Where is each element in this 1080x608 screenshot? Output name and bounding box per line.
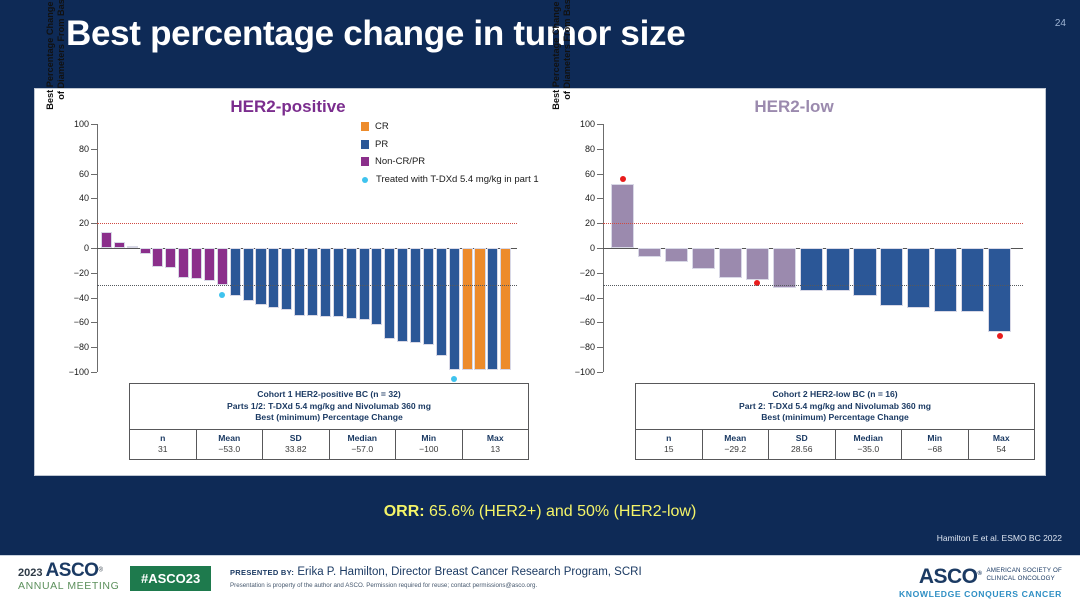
bar bbox=[746, 248, 769, 280]
bar bbox=[611, 184, 634, 248]
y-tick bbox=[597, 198, 603, 199]
bar bbox=[320, 248, 331, 317]
stats-column-header: Min bbox=[396, 433, 462, 444]
bar bbox=[114, 242, 125, 248]
reference-line bbox=[603, 285, 1023, 286]
plot-area-her2-low: 100806040200−20−40−60−80−100 bbox=[603, 124, 1023, 372]
bar bbox=[853, 248, 876, 296]
y-tick-label: −40 bbox=[580, 293, 595, 303]
y-tick bbox=[597, 149, 603, 150]
stats-column-header: SD bbox=[769, 433, 835, 444]
y-tick bbox=[597, 372, 603, 373]
stats-column-header: Max bbox=[969, 433, 1035, 444]
stats-column-header: Median bbox=[330, 433, 396, 444]
bar bbox=[243, 248, 254, 301]
bar bbox=[268, 248, 279, 308]
orr-summary: ORR: 65.6% (HER2+) and 50% (HER2-low) bbox=[0, 503, 1080, 521]
bar bbox=[371, 248, 382, 325]
presented-by-label: PRESENTED BY: bbox=[230, 568, 294, 577]
presented-by-line: PRESENTED BY: Erika P. Hamilton, Directo… bbox=[230, 566, 642, 578]
bar bbox=[178, 248, 189, 278]
bar bbox=[152, 248, 163, 267]
stats-value: 28.56 bbox=[769, 444, 835, 455]
bar bbox=[638, 248, 661, 257]
legend-swatch-icon bbox=[361, 157, 369, 166]
legend-label: Treated with T-DXd 5.4 mg/kg in part 1 bbox=[376, 174, 539, 186]
stats-cell: Max13 bbox=[463, 430, 529, 459]
stats-column-header: n bbox=[636, 433, 702, 444]
y-tick bbox=[91, 174, 97, 175]
chart-panel: HER2-positive Best Percentage Change in … bbox=[34, 88, 1046, 476]
chart-title-her2-positive: HER2-positive bbox=[35, 97, 541, 117]
bar bbox=[487, 248, 498, 370]
stats-column-header: Mean bbox=[197, 433, 263, 444]
stats-header-line1: Cohort 2 HER2-low BC (n = 16) bbox=[640, 389, 1030, 401]
bar bbox=[907, 248, 930, 308]
y-axis-label-left: Best Percentage Change in Sumof Diameter… bbox=[45, 0, 67, 144]
orr-label: ORR: bbox=[384, 503, 425, 520]
stats-header-line3: Best (minimum) Percentage Change bbox=[134, 412, 524, 424]
y-tick bbox=[597, 248, 603, 249]
stats-cell: Max54 bbox=[969, 430, 1035, 459]
bar bbox=[500, 248, 511, 370]
stats-row: n31Mean−53.0SD33.82Median−57.0Min−100Max… bbox=[130, 430, 528, 459]
bar bbox=[462, 248, 473, 370]
bar bbox=[346, 248, 357, 319]
y-tick-label: −80 bbox=[580, 342, 595, 352]
y-tick-label: 60 bbox=[79, 169, 89, 179]
y-tick-label: −60 bbox=[74, 317, 89, 327]
data-point-marker bbox=[219, 292, 225, 298]
bar bbox=[101, 232, 112, 248]
asco-logo-wordmark: ASCO® bbox=[919, 564, 982, 587]
y-tick bbox=[91, 198, 97, 199]
bar bbox=[449, 248, 460, 370]
reference-line bbox=[97, 223, 517, 224]
legend-label: CR bbox=[375, 121, 389, 133]
y-tick bbox=[91, 372, 97, 373]
stats-cell: SD28.56 bbox=[769, 430, 836, 459]
stats-value: 33.82 bbox=[263, 444, 329, 455]
citation: Hamilton E et al. ESMO BC 2022 bbox=[937, 533, 1062, 543]
slide-footer: 2023 ASCO® ANNUAL MEETING #ASCO23 PRESEN… bbox=[0, 555, 1080, 608]
y-tick bbox=[91, 347, 97, 348]
asco-year: 2023 bbox=[18, 567, 42, 579]
reference-line bbox=[603, 223, 1023, 224]
stats-cell: Median−57.0 bbox=[330, 430, 397, 459]
bar bbox=[307, 248, 318, 316]
bar bbox=[665, 248, 688, 262]
presented-by-block: PRESENTED BY: Erika P. Hamilton, Directo… bbox=[230, 566, 642, 589]
bar bbox=[474, 248, 485, 370]
legend-item: Treated with T-DXd 5.4 mg/kg in part 1 bbox=[361, 174, 539, 186]
stats-header-line2: Part 2: T-DXd 5.4 mg/kg and Nivolumab 36… bbox=[640, 401, 1030, 413]
stats-cell: Mean−53.0 bbox=[197, 430, 264, 459]
reference-line bbox=[97, 285, 517, 286]
bar bbox=[359, 248, 370, 320]
stats-column-header: n bbox=[130, 433, 196, 444]
stats-cell: SD33.82 bbox=[263, 430, 330, 459]
bar bbox=[423, 248, 434, 345]
bar bbox=[719, 248, 742, 278]
slide-number: 24 bbox=[1055, 18, 1066, 29]
stats-column-header: SD bbox=[263, 433, 329, 444]
y-tick-label: −40 bbox=[74, 293, 89, 303]
data-point-marker bbox=[451, 376, 457, 382]
bar bbox=[217, 248, 228, 285]
stats-value: −100 bbox=[396, 444, 462, 455]
bar bbox=[410, 248, 421, 343]
her2-positive-chart: HER2-positive Best Percentage Change in … bbox=[35, 89, 541, 477]
stats-header-right: Cohort 2 HER2-low BC (n = 16) Part 2: T-… bbox=[636, 384, 1034, 430]
legend-label: PR bbox=[375, 139, 388, 151]
bar bbox=[255, 248, 266, 305]
bar bbox=[230, 248, 241, 296]
stats-header-line1: Cohort 1 HER2-positive BC (n = 32) bbox=[134, 389, 524, 401]
stats-value: 15 bbox=[636, 444, 702, 455]
asco-logo: ASCO® AMERICAN SOCIETY OF CLINICAL ONCOL… bbox=[899, 564, 1062, 599]
y-tick bbox=[91, 322, 97, 323]
asco-annual-meeting-logo: 2023 ASCO® ANNUAL MEETING bbox=[18, 564, 119, 593]
asco-annual-meeting-text: ANNUAL MEETING bbox=[18, 580, 119, 593]
y-tick bbox=[91, 273, 97, 274]
stats-header-line2: Parts 1/2: T-DXd 5.4 mg/kg and Nivolumab… bbox=[134, 401, 524, 413]
y-tick-label: −20 bbox=[74, 268, 89, 278]
y-tick bbox=[597, 273, 603, 274]
y-tick bbox=[597, 124, 603, 125]
stats-cell: Mean−29.2 bbox=[703, 430, 770, 459]
y-tick bbox=[91, 149, 97, 150]
bar bbox=[436, 248, 447, 356]
y-tick-label: 0 bbox=[84, 243, 89, 253]
y-tick bbox=[91, 124, 97, 125]
bar bbox=[127, 246, 138, 248]
stats-header-line3: Best (minimum) Percentage Change bbox=[640, 412, 1030, 424]
chart-title-her2-low: HER2-low bbox=[541, 97, 1047, 117]
asco-year-row: 2023 ASCO® bbox=[18, 564, 119, 580]
stats-cell: n15 bbox=[636, 430, 703, 459]
legend-dot-icon bbox=[362, 177, 368, 183]
y-tick-label: −100 bbox=[575, 367, 595, 377]
stats-header-left: Cohort 1 HER2-positive BC (n = 32) Parts… bbox=[130, 384, 528, 430]
stats-table-her2-low: Cohort 2 HER2-low BC (n = 16) Part 2: T-… bbox=[635, 383, 1035, 460]
y-tick-label: 60 bbox=[585, 169, 595, 179]
asco-logo-sub-line2: CLINICAL ONCOLOGY bbox=[986, 575, 1055, 582]
stats-column-header: Median bbox=[836, 433, 902, 444]
y-tick-label: 0 bbox=[590, 243, 595, 253]
bar bbox=[880, 248, 903, 306]
bar bbox=[988, 248, 1011, 332]
legend-swatch-icon bbox=[361, 140, 369, 149]
data-point-marker bbox=[620, 176, 626, 182]
bar-series-her2-low bbox=[603, 124, 1023, 372]
presenter-name: Erika P. Hamilton, Director Breast Cance… bbox=[297, 566, 641, 578]
bar bbox=[934, 248, 957, 312]
stats-column-header: Min bbox=[902, 433, 968, 444]
page-title: Best percentage change in tumor size bbox=[66, 14, 685, 54]
trademark-icon: ® bbox=[978, 571, 982, 577]
bar bbox=[204, 248, 215, 281]
asco-wordmark: ASCO bbox=[46, 560, 99, 581]
asco-logo-subtitle: AMERICAN SOCIETY OF CLINICAL ONCOLOGY bbox=[986, 567, 1062, 582]
stats-cell: n31 bbox=[130, 430, 197, 459]
asco-logo-top: ASCO® AMERICAN SOCIETY OF CLINICAL ONCOL… bbox=[899, 564, 1062, 587]
legend-item: CR bbox=[361, 121, 539, 133]
asco-logo-sub-line1: AMERICAN SOCIETY OF bbox=[986, 567, 1062, 574]
bar bbox=[333, 248, 344, 317]
y-tick-label: 20 bbox=[585, 218, 595, 228]
y-tick-label: 100 bbox=[580, 119, 595, 129]
y-tick-label: 40 bbox=[585, 193, 595, 203]
bar bbox=[191, 248, 202, 279]
bar bbox=[961, 248, 984, 312]
stats-value: −68 bbox=[902, 444, 968, 455]
y-tick bbox=[597, 347, 603, 348]
y-tick-label: −80 bbox=[74, 342, 89, 352]
stats-cell: Min−100 bbox=[396, 430, 463, 459]
y-tick-label: 80 bbox=[79, 144, 89, 154]
y-tick-label: 40 bbox=[79, 193, 89, 203]
stats-value: −35.0 bbox=[836, 444, 902, 455]
orr-value: 65.6% (HER2+) and 50% (HER2-low) bbox=[425, 503, 697, 520]
hashtag-badge: #ASCO23 bbox=[130, 566, 211, 591]
stats-value: −53.0 bbox=[197, 444, 263, 455]
y-tick-label: −60 bbox=[580, 317, 595, 327]
y-tick-label: −100 bbox=[69, 367, 89, 377]
y-tick-label: 80 bbox=[585, 144, 595, 154]
bar bbox=[165, 248, 176, 268]
legend-swatch-icon bbox=[361, 122, 369, 131]
y-tick-label: −20 bbox=[580, 268, 595, 278]
stats-row: n15Mean−29.2SD28.56Median−35.0Min−68Max5… bbox=[636, 430, 1034, 459]
y-tick bbox=[597, 298, 603, 299]
stats-value: 54 bbox=[969, 444, 1035, 455]
stats-cell: Median−35.0 bbox=[836, 430, 903, 459]
bar bbox=[397, 248, 408, 342]
y-tick bbox=[597, 322, 603, 323]
data-point-marker bbox=[997, 333, 1003, 339]
bar bbox=[773, 248, 796, 288]
bar bbox=[281, 248, 292, 310]
trademark-icon: ® bbox=[98, 567, 102, 573]
bar bbox=[140, 248, 151, 254]
stats-value: 31 bbox=[130, 444, 196, 455]
y-tick-label: 100 bbox=[74, 119, 89, 129]
y-tick bbox=[91, 248, 97, 249]
legend-her2-positive: CRPRNon-CR/PRTreated with T-DXd 5.4 mg/k… bbox=[361, 121, 539, 191]
y-axis-label-right: Best Percentage Change in Sumof Diameter… bbox=[551, 0, 573, 144]
legend-label: Non-CR/PR bbox=[375, 156, 425, 168]
legend-item: Non-CR/PR bbox=[361, 156, 539, 168]
legend-item: PR bbox=[361, 139, 539, 151]
y-tick-label: 20 bbox=[79, 218, 89, 228]
y-tick bbox=[91, 298, 97, 299]
stats-column-header: Max bbox=[463, 433, 529, 444]
bar bbox=[384, 248, 395, 339]
y-tick bbox=[597, 174, 603, 175]
asco-tagline: KNOWLEDGE CONQUERS CANCER bbox=[899, 589, 1062, 599]
bar bbox=[294, 248, 305, 316]
stats-table-her2-positive: Cohort 1 HER2-positive BC (n = 32) Parts… bbox=[129, 383, 529, 460]
stats-value: −29.2 bbox=[703, 444, 769, 455]
stats-column-header: Mean bbox=[703, 433, 769, 444]
bar bbox=[692, 248, 715, 269]
stats-cell: Min−68 bbox=[902, 430, 969, 459]
permission-notice: Presentation is property of the author a… bbox=[230, 582, 642, 589]
stats-value: −57.0 bbox=[330, 444, 396, 455]
stats-value: 13 bbox=[463, 444, 529, 455]
